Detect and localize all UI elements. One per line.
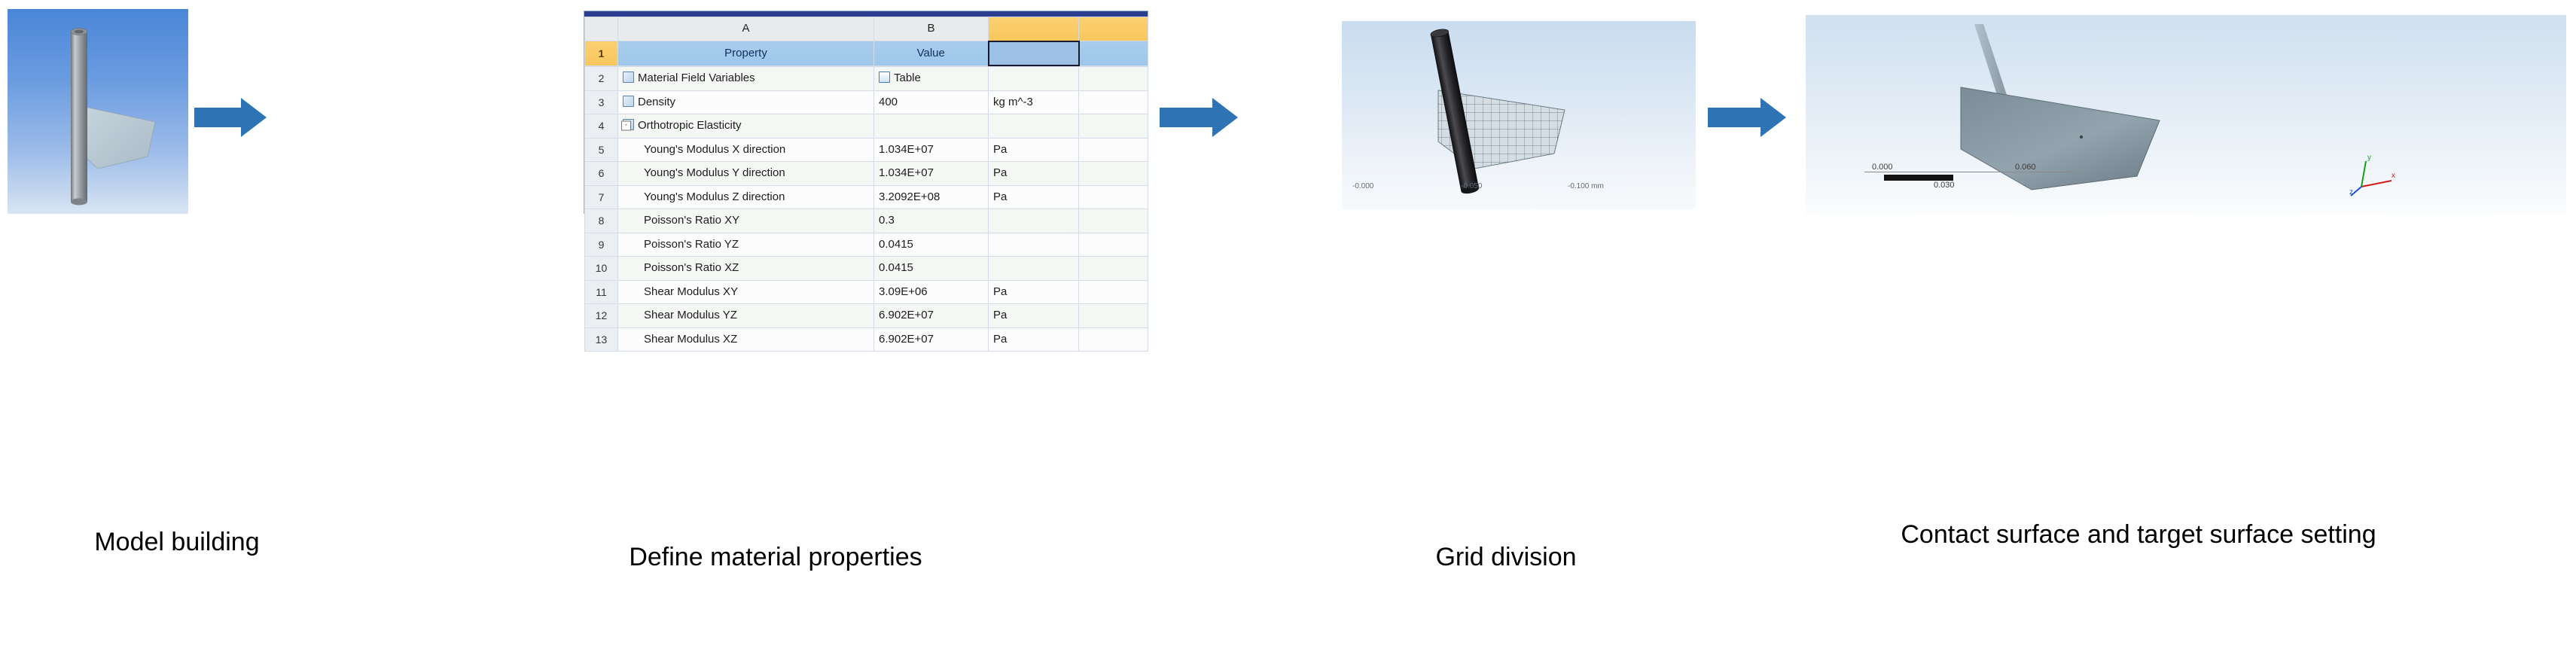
column-letter-a[interactable]: A	[618, 17, 874, 41]
property-label: Orthotropic Elasticity	[638, 119, 742, 132]
workflow-diagram: A B 1 Property Value 2Material Field Var…	[0, 0, 2576, 670]
value-cell[interactable]: Table	[874, 67, 989, 91]
property-cell[interactable]: Poisson's Ratio YZ	[618, 233, 874, 257]
unit-cell[interactable]: kg m^-3	[989, 90, 1079, 114]
unit-cell[interactable]: Pa	[989, 280, 1079, 304]
property-label: Poisson's Ratio XZ	[644, 261, 739, 274]
row-number[interactable]: 11	[585, 280, 618, 304]
unit-cell[interactable]: Pa	[989, 304, 1079, 328]
property-label: Shear Modulus YZ	[644, 309, 737, 321]
value-cell[interactable]: 6.902E+07	[874, 327, 989, 352]
property-cell[interactable]: Young's Modulus Z direction	[618, 185, 874, 209]
property-label: Young's Modulus Y direction	[644, 166, 785, 179]
x-axis-line	[2361, 181, 2392, 187]
unit-cell[interactable]	[989, 209, 1079, 233]
value-label: 6.902E+07	[879, 309, 934, 321]
unit-cell[interactable]: Pa	[989, 185, 1079, 209]
unit-cell[interactable]: Pa	[989, 162, 1079, 186]
grid-division-viewport[interactable]: -0.000 -0.050 -0.100 mm	[1342, 21, 1696, 209]
arrow-2	[1160, 98, 1242, 137]
value-cell[interactable]: 3.09E+06	[874, 280, 989, 304]
value-label: 3.2092E+08	[879, 190, 940, 203]
contact-target-viewport[interactable]: 0.000 0.030 0.060 x y z	[1806, 15, 2566, 215]
property-label: Shear Modulus XZ	[644, 333, 737, 346]
table-column-letters: A B	[585, 17, 1148, 41]
property-cell[interactable]: Young's Modulus X direction	[618, 138, 874, 162]
caption-contact-target: Contact surface and target surface setti…	[1717, 519, 2560, 550]
property-cell[interactable]: Poisson's Ratio XY	[618, 209, 874, 233]
caption-define-material: Define material properties	[505, 542, 1047, 573]
caption-grid-division: Grid division	[1325, 542, 1687, 573]
value-label: 0.0415	[879, 238, 913, 251]
row-number[interactable]: 13	[585, 327, 618, 352]
extra-cell[interactable]	[1079, 162, 1148, 186]
property-cell[interactable]: Shear Modulus XZ	[618, 327, 874, 352]
table-row[interactable]: 10Poisson's Ratio XZ0.0415	[585, 257, 1148, 281]
extra-cell[interactable]	[1079, 327, 1148, 352]
table-row[interactable]: 6Young's Modulus Y direction1.034E+07Pa	[585, 162, 1148, 186]
arrow-1	[194, 98, 267, 137]
value-cell[interactable]: 0.0415	[874, 257, 989, 281]
table-row[interactable]: 5Young's Modulus X direction1.034E+07Pa	[585, 138, 1148, 162]
table-row[interactable]: 11Shear Modulus XY3.09E+06Pa	[585, 280, 1148, 304]
mesh-axis-tick-0: -0.000	[1352, 182, 1373, 190]
material-properties-rows: 2Material Field VariablesTable3Density40…	[584, 66, 1148, 352]
axis-triad[interactable]: x y z	[2349, 155, 2399, 200]
property-label: Material Field Variables	[638, 72, 755, 84]
spreadsheet-icon	[623, 72, 634, 83]
value-cell[interactable]: 0.3	[874, 209, 989, 233]
value-label: 0.0415	[879, 261, 913, 274]
caption-model-building: Model building	[0, 527, 354, 558]
header-property: Property	[618, 41, 874, 66]
extra-cell[interactable]	[1079, 280, 1148, 304]
row-number[interactable]: 3	[585, 90, 618, 114]
extra-cell[interactable]	[1079, 233, 1148, 257]
value-cell[interactable]: 3.2092E+08	[874, 185, 989, 209]
header-unit-selected[interactable]	[989, 41, 1079, 66]
row-number[interactable]: 1	[585, 41, 618, 66]
unit-cell[interactable]: Pa	[989, 138, 1079, 162]
value-cell[interactable]	[874, 114, 989, 139]
property-cell[interactable]: Shear Modulus YZ	[618, 304, 874, 328]
surface-marker-dot	[2080, 136, 2083, 139]
column-letter-b[interactable]: B	[874, 17, 989, 41]
arrow-3	[1708, 98, 1791, 137]
property-label: Poisson's Ratio YZ	[644, 238, 739, 251]
column-letter-c[interactable]	[989, 17, 1079, 41]
extra-cell[interactable]	[1079, 185, 1148, 209]
extra-cell[interactable]	[1079, 209, 1148, 233]
row-number[interactable]: 9	[585, 233, 618, 257]
model-building-viewport[interactable]	[8, 9, 188, 214]
y-axis-label: y	[2367, 154, 2371, 162]
table-row[interactable]: 2Material Field VariablesTable	[585, 67, 1148, 91]
property-label: Poisson's Ratio XY	[644, 214, 739, 227]
property-cell[interactable]: Density	[618, 90, 874, 114]
table-row[interactable]: 4-Orthotropic Elasticity	[585, 114, 1148, 139]
extra-cell[interactable]	[1079, 114, 1148, 139]
table-row[interactable]: 9Poisson's Ratio YZ0.0415	[585, 233, 1148, 257]
corner-cell[interactable]	[585, 17, 618, 41]
property-cell[interactable]: Material Field Variables	[618, 67, 874, 91]
value-label: Table	[894, 72, 921, 84]
scale-label-max: 0.060	[2015, 163, 2036, 172]
property-cell[interactable]: Poisson's Ratio XZ	[618, 257, 874, 281]
spreadsheet-icon	[623, 96, 634, 107]
extra-cell[interactable]	[1079, 257, 1148, 281]
unit-cell[interactable]: Pa	[989, 327, 1079, 352]
row-number[interactable]: 5	[585, 138, 618, 162]
extra-cell[interactable]	[1079, 90, 1148, 114]
scale-label-min: 0.000	[1872, 163, 1893, 172]
value-label: 400	[879, 96, 898, 108]
table-row[interactable]: 3Density400kg m^-3	[585, 90, 1148, 114]
table-row[interactable]: 7Young's Modulus Z direction3.2092E+08Pa	[585, 185, 1148, 209]
unit-cell[interactable]	[989, 114, 1079, 139]
mesh-geometry-svg	[1342, 21, 1696, 209]
cylinder-bottom-cap	[71, 199, 87, 206]
unit-cell[interactable]	[989, 257, 1079, 281]
property-cell[interactable]: Shear Modulus XY	[618, 280, 874, 304]
unit-cell[interactable]	[989, 67, 1079, 91]
value-cell[interactable]: 6.902E+07	[874, 304, 989, 328]
value-label: 0.3	[879, 214, 895, 227]
property-label: Density	[638, 96, 675, 108]
property-label: Young's Modulus X direction	[644, 143, 785, 156]
row-number[interactable]: 6	[585, 162, 618, 186]
row-number[interactable]: 7	[585, 185, 618, 209]
model-geometry-svg	[8, 9, 188, 214]
y-axis-line	[2361, 161, 2366, 187]
table-body: 1 Property Value	[585, 41, 1148, 66]
value-cell[interactable]: 1.034E+07	[874, 138, 989, 162]
row-number[interactable]: 4	[585, 114, 618, 139]
material-properties-spreadsheet[interactable]: A B 1 Property Value 2Material Field Var…	[584, 11, 1148, 214]
table-row[interactable]: 1 Property Value	[585, 41, 1148, 66]
mesh-axis-tick-1: -0.050	[1461, 182, 1482, 190]
scale-bar: 0.000 0.030 0.060	[1864, 163, 2075, 193]
value-label: 1.034E+07	[879, 166, 934, 179]
header-value: Value	[874, 41, 989, 66]
row-number[interactable]: 8	[585, 209, 618, 233]
extra-cell[interactable]	[1079, 138, 1148, 162]
property-cell[interactable]: Young's Modulus Y direction	[618, 162, 874, 186]
property-label: Shear Modulus XY	[644, 285, 738, 298]
property-cell[interactable]: -Orthotropic Elasticity	[618, 114, 874, 139]
value-label: 3.09E+06	[879, 285, 928, 298]
scale-label-mid: 0.030	[1934, 181, 1955, 190]
extra-cell[interactable]	[1079, 304, 1148, 328]
row-number[interactable]: 2	[585, 67, 618, 91]
column-letter-d[interactable]	[1079, 17, 1148, 41]
value-cell[interactable]: 400	[874, 90, 989, 114]
cylinder-body	[71, 32, 87, 202]
value-label: 1.034E+07	[879, 143, 934, 156]
extra-cell[interactable]	[1079, 67, 1148, 91]
x-axis-label: x	[2392, 172, 2395, 180]
table-icon	[879, 72, 890, 83]
expander-icon[interactable]: -	[621, 121, 631, 131]
material-properties-table: A B 1 Property Value	[584, 17, 1148, 66]
table-row[interactable]: 8Poisson's Ratio XY0.3	[585, 209, 1148, 233]
table-row[interactable]: 13Shear Modulus XZ6.902E+07Pa	[585, 327, 1148, 352]
sheet-title-bar	[584, 11, 1148, 17]
table-row[interactable]: 12Shear Modulus YZ6.902E+07Pa	[585, 304, 1148, 328]
header-extra	[1079, 41, 1148, 66]
row-number[interactable]: 10	[585, 257, 618, 281]
z-axis-label: z	[2349, 188, 2353, 196]
value-cell[interactable]: 1.034E+07	[874, 162, 989, 186]
value-cell[interactable]: 0.0415	[874, 233, 989, 257]
value-label: 6.902E+07	[879, 333, 934, 346]
row-number[interactable]: 12	[585, 304, 618, 328]
property-label: Young's Modulus Z direction	[644, 190, 785, 203]
mesh-axis-tick-2: -0.100 mm	[1568, 182, 1604, 190]
unit-cell[interactable]	[989, 233, 1079, 257]
